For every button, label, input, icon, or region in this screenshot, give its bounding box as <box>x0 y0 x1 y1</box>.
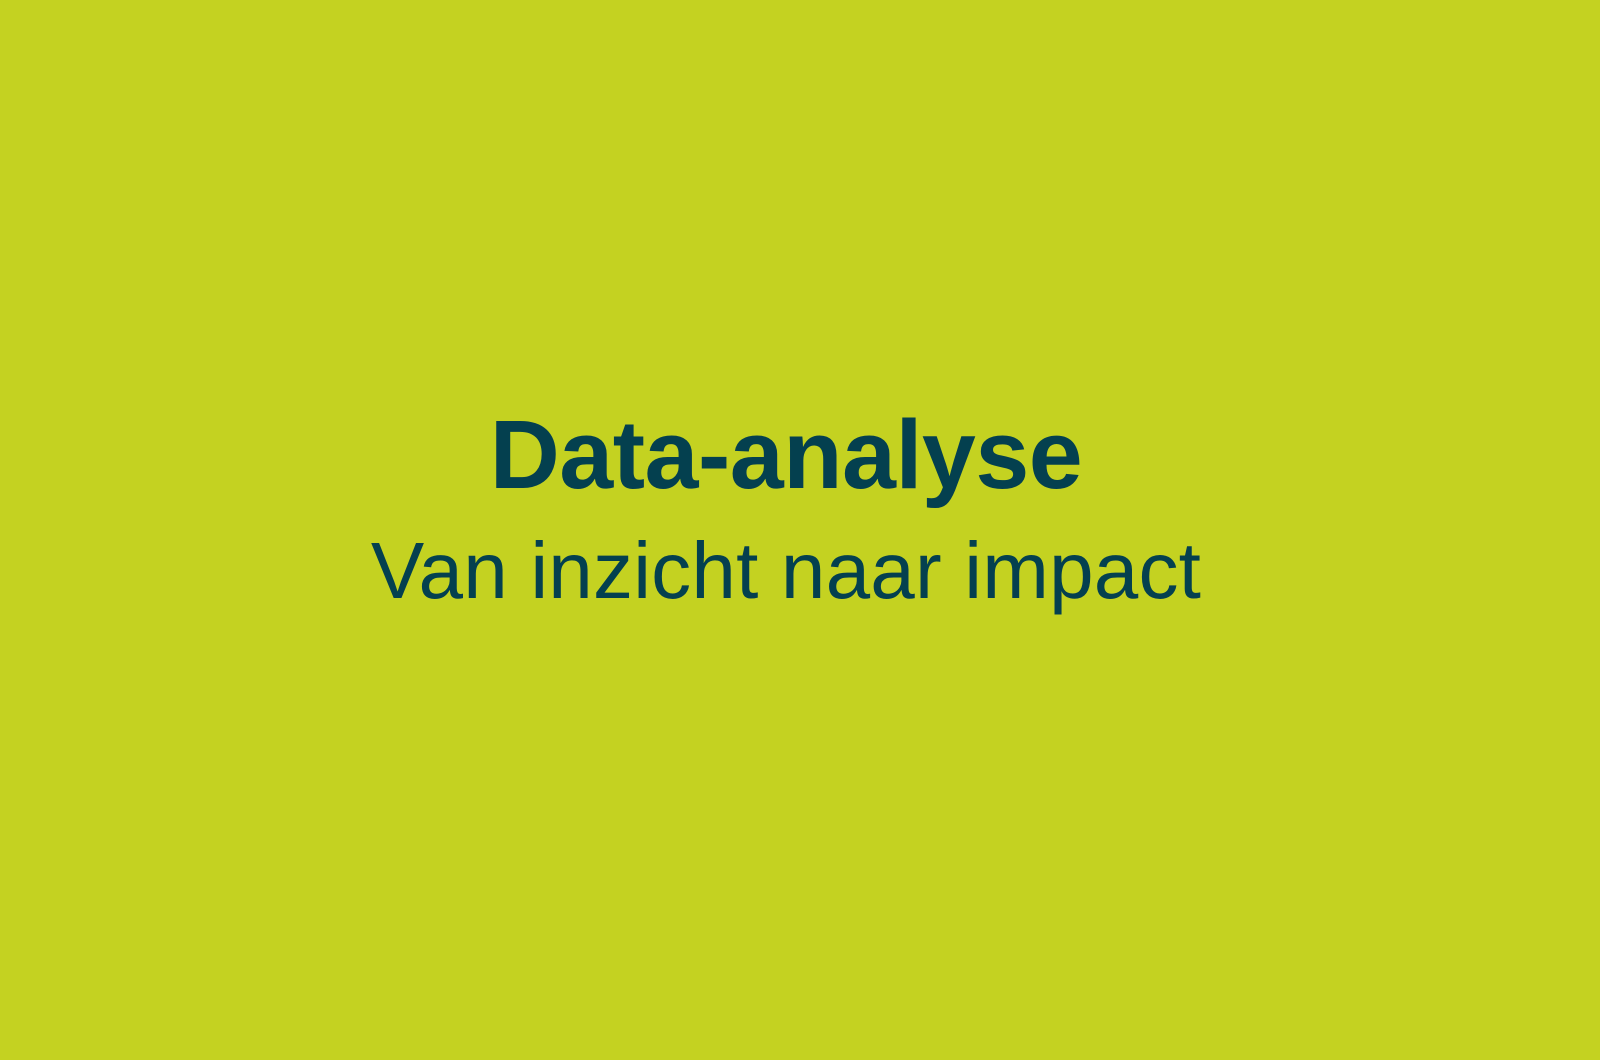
page-title: Data-analyse <box>0 406 1586 503</box>
title-block: Data-analyse Van inzicht naar impact <box>0 406 1586 611</box>
title-slide: Data-analyse Van inzicht naar impact <box>0 0 1600 1060</box>
page-subtitle: Van inzicht naar impact <box>0 531 1586 611</box>
